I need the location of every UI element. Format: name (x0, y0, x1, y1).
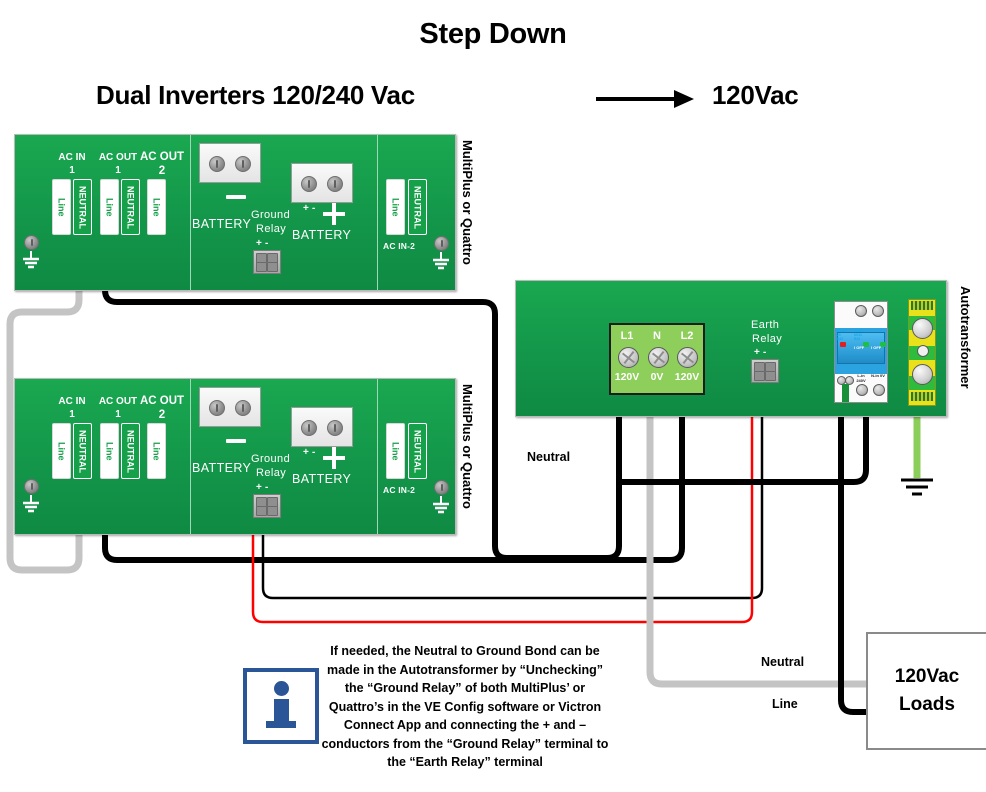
terminal-ac-in-1-line[interactable]: Line (52, 423, 71, 479)
ac-out-2-header: AC OUT (135, 151, 189, 163)
breaker-top-term-2[interactable] (872, 305, 884, 317)
terminal-label: Line (387, 180, 404, 234)
breaker-off-label-right: I OFF (871, 345, 881, 350)
terminal-ac-in-1-line[interactable]: Line (52, 179, 71, 235)
terminal-label: NEUTRAL (74, 424, 91, 478)
ground-bus-bar[interactable] (908, 299, 936, 406)
neutral-bond-label: Neutral (527, 450, 570, 464)
ac-out-2-number: 2 (135, 165, 189, 177)
battery-negative-block[interactable] (199, 143, 261, 183)
terminal-name-l2: L2 (673, 330, 701, 342)
terminal-voltage-n: 0V (642, 371, 672, 383)
autotransformer-panel[interactable]: L1 N L2 120V 0V 120V Earth Relay + - C60… (515, 280, 947, 417)
battery-minus-symbol (226, 439, 246, 443)
terminal-screw-n[interactable] (648, 347, 669, 368)
terminal-name-n: N (643, 330, 671, 342)
terminal-label: NEUTRAL (122, 424, 139, 478)
terminal-screw-l2[interactable] (677, 347, 698, 368)
breaker-led-red (840, 342, 846, 347)
terminal-label: NEUTRAL (409, 424, 426, 478)
chassis-ground-screw (24, 235, 39, 250)
battery-minus-label: BATTERY (192, 217, 251, 231)
battery-minus-label: BATTERY (192, 461, 251, 475)
battery-plus-label: BATTERY (292, 472, 351, 486)
chassis-ground-icon (20, 495, 42, 520)
breaker-bottom-term-n[interactable] (873, 384, 885, 396)
terminal-ac-in-1-neutral[interactable]: NEUTRAL (73, 179, 92, 235)
ground-bar-screw-3[interactable] (912, 364, 933, 385)
terminal-label: NEUTRAL (74, 180, 91, 234)
ground-relay-terminal[interactable] (253, 494, 281, 518)
battery-positive-block[interactable] (291, 163, 353, 203)
circuit-breaker[interactable]: C60N20B32 C60TN011B32 I OFF I OFF L-in 2… (834, 301, 888, 403)
terminal-ac-out-2-line[interactable]: Line (147, 423, 166, 479)
battery-plus-symbol-h (323, 212, 345, 216)
load-box-line-1: 120Vac (895, 663, 959, 691)
terminal-name-l1: L1 (613, 330, 641, 342)
terminal-label: Line (387, 424, 404, 478)
ground-relay-label-2: Relay (256, 223, 286, 235)
battery-plus-polarity: + - (303, 203, 316, 214)
earth-relay-terminal[interactable] (751, 359, 779, 383)
battery-plus-label: BATTERY (292, 228, 351, 242)
chassis-ground-icon-2 (430, 252, 452, 277)
breaker-bottom-term-l[interactable] (856, 384, 868, 396)
ground-relay-label-2: Relay (256, 467, 286, 479)
battery-positive-block[interactable] (291, 407, 353, 447)
terminal-ac-in2-neutral[interactable]: NEUTRAL (408, 179, 427, 235)
ground-relay-label-1: Ground (251, 453, 290, 465)
autotransformer-side-label: Autotransformer (958, 286, 973, 389)
breaker-face-text-right: C60TN011B32 (854, 329, 862, 341)
ground-bar-screw-2[interactable] (917, 345, 929, 357)
inverter-2-side-label: MultiPlus or Quattro (460, 384, 475, 509)
chassis-ground-icon-2 (430, 496, 452, 521)
ac-in-1-header: AC IN (49, 396, 95, 407)
inverter-panel-1[interactable]: AC IN 1 AC OUT 1 AC OUT 2 Line NEUTRAL L… (14, 134, 456, 291)
ac-in-1-number: 1 (49, 165, 95, 176)
earth-relay-label-1: Earth (751, 319, 779, 331)
terminal-label: Line (53, 424, 70, 478)
terminal-ac-out-1-neutral[interactable]: NEUTRAL (121, 423, 140, 479)
terminal-ac-out-2-line[interactable]: Line (147, 179, 166, 235)
earth-relay-label-2: Relay (752, 333, 782, 345)
battery-plus-symbol-h (323, 456, 345, 460)
ground-relay-polarity: + - (256, 482, 269, 493)
terminal-label: Line (148, 424, 165, 478)
ground-relay-polarity: + - (256, 238, 269, 249)
terminal-ac-out-1-neutral[interactable]: NEUTRAL (121, 179, 140, 235)
breaker-bottom-label-l: L-in 240V (853, 374, 869, 383)
terminal-ac-out-1-line[interactable]: Line (100, 179, 119, 235)
autotransformer-terminal-block[interactable]: L1 N L2 120V 0V 120V (609, 323, 705, 395)
terminal-voltage-l2: 120V (670, 371, 704, 383)
inverter-panel-2[interactable]: AC IN 1 AC OUT 1 AC OUT 2 Line NEUTRAL L… (14, 378, 456, 535)
chassis-ground-screw-2 (434, 236, 449, 251)
terminal-screw-l1[interactable] (618, 347, 639, 368)
chassis-ground-screw-2 (434, 480, 449, 495)
terminal-label: Line (148, 180, 165, 234)
ground-relay-terminal[interactable] (253, 250, 281, 274)
chassis-ground-screw (24, 479, 39, 494)
battery-plus-polarity: + - (303, 447, 316, 458)
earth-ground-symbol (901, 480, 933, 494)
ac-out-2-header: AC OUT (135, 395, 189, 407)
terminal-label: Line (101, 180, 118, 234)
terminal-voltage-l1: 120V (610, 371, 644, 383)
ac-in-1-number: 1 (49, 409, 95, 420)
earth-relay-polarity: + - (754, 347, 767, 358)
ground-bar-screw-1[interactable] (912, 318, 933, 339)
terminal-ac-in2-line[interactable]: Line (386, 423, 405, 479)
battery-minus-symbol (226, 195, 246, 199)
breaker-face-text-left: C60N20B32 (837, 329, 846, 341)
terminal-ac-out-1-line[interactable]: Line (100, 423, 119, 479)
terminal-label: NEUTRAL (409, 180, 426, 234)
terminal-ac-in2-neutral[interactable]: NEUTRAL (408, 423, 427, 479)
terminal-ac-in2-line[interactable]: Line (386, 179, 405, 235)
info-note-text: If needed, the Neutral to Ground Bond ca… (320, 642, 610, 772)
chassis-ground-icon (20, 251, 42, 276)
inverter-1-side-label: MultiPlus or Quattro (460, 140, 475, 265)
wire-label-line: Line (772, 697, 798, 711)
info-icon (243, 668, 319, 744)
terminal-label: NEUTRAL (122, 180, 139, 234)
load-box-line-2: Loads (899, 691, 955, 719)
breaker-top-term-1[interactable] (855, 305, 867, 317)
terminal-ac-in-1-neutral[interactable]: NEUTRAL (73, 423, 92, 479)
breaker-off-label-left: I OFF (854, 345, 864, 350)
terminal-label: Line (101, 424, 118, 478)
terminal-label: Line (53, 180, 70, 234)
ground-relay-label-1: Ground (251, 209, 290, 221)
breaker-bottom-label-n: N-in 0V (870, 374, 886, 379)
wire-label-neutral: Neutral (761, 655, 804, 669)
ac-in2-label: AC IN-2 (383, 241, 415, 251)
ac-in2-label: AC IN-2 (383, 485, 415, 495)
ac-in-1-header: AC IN (49, 152, 95, 163)
battery-negative-block[interactable] (199, 387, 261, 427)
load-box: 120Vac Loads (866, 632, 986, 750)
ac-out-2-number: 2 (135, 409, 189, 421)
